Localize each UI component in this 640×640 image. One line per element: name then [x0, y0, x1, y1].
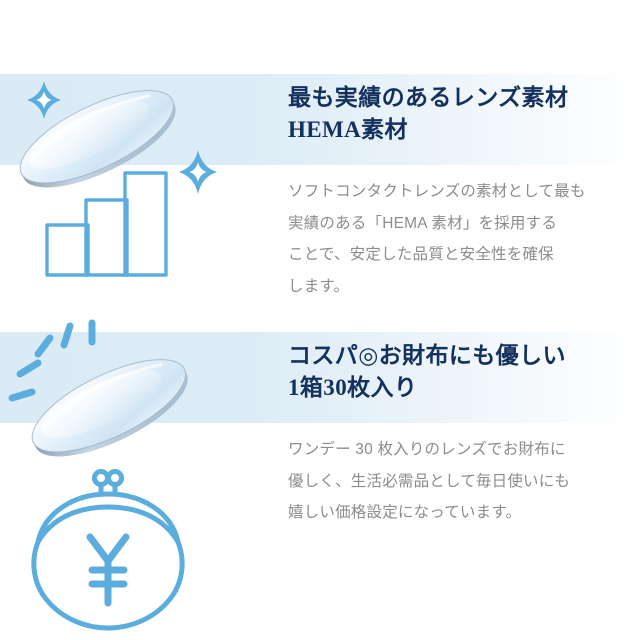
- feature-section-cost-performance: コスパ◎お財布にも優しい 1箱30枚入り ワンデー 30 枚入りのレンズでお財布…: [0, 258, 640, 640]
- section-heading: コスパ◎お財布にも優しい 1箱30枚入り: [288, 340, 566, 403]
- section-body: ワンデー 30 枚入りのレンズでお財布に 優しく、生活必需品として毎日使いにも …: [288, 434, 570, 529]
- contact-lens-icon: [20, 341, 200, 475]
- coin-purse-icon: [34, 472, 182, 629]
- illustration-cost-performance: [0, 258, 282, 640]
- sparkle-icon: [179, 150, 217, 194]
- lens-purse-illustration: [0, 318, 282, 640]
- contact-lens-icon: [8, 72, 188, 206]
- section-heading: 最も実績のあるレンズ素材 HEMA素材: [288, 82, 568, 145]
- yen-symbol: [90, 537, 126, 603]
- sparkle-icon: [27, 81, 61, 119]
- promo-page: 最も実績のあるレンズ素材 HEMA素材 ソフトコンタクトレンズの素材として最も …: [0, 0, 640, 640]
